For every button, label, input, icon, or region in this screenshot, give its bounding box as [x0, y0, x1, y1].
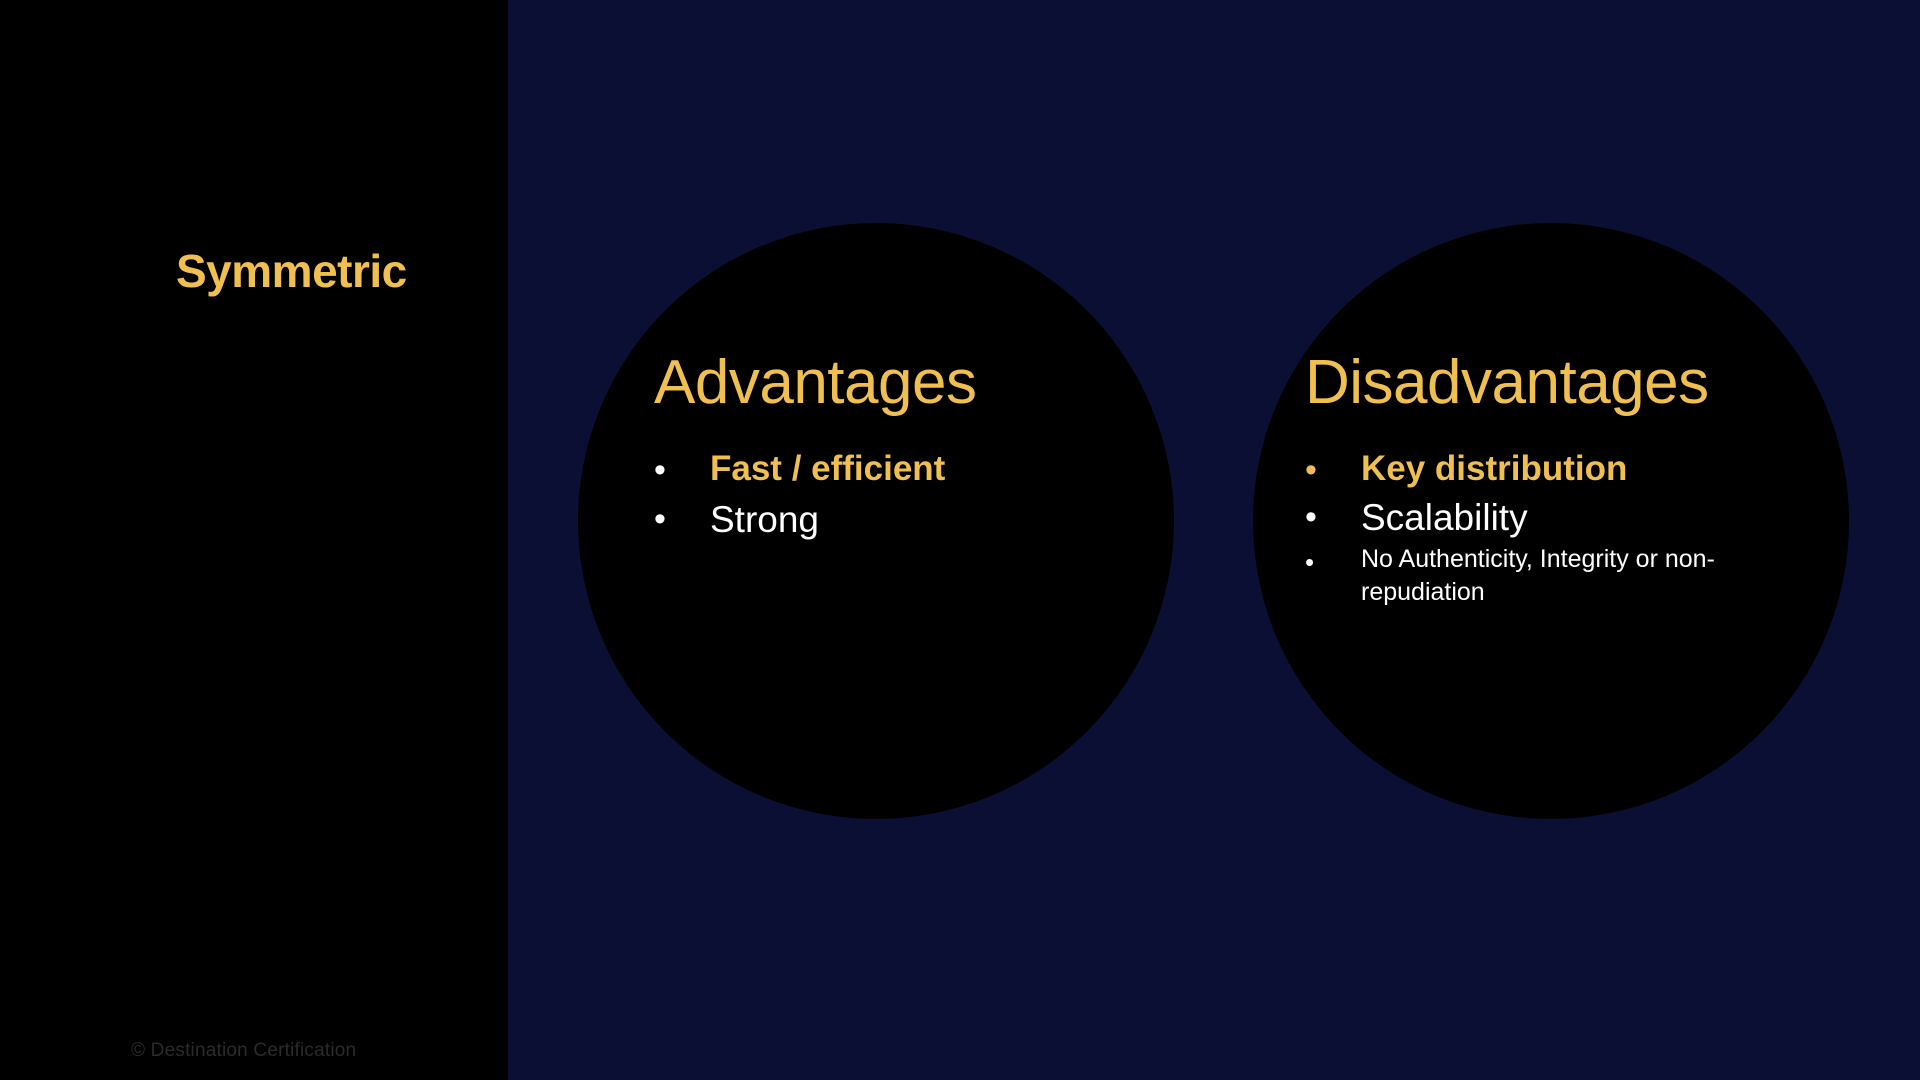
- advantages-content: Advantages • Fast / efficient • Strong: [654, 350, 1124, 547]
- list-item: • No Authenticity, Integrity or non- rep…: [1305, 543, 1805, 608]
- disadvantages-heading: Disadvantages: [1305, 350, 1805, 415]
- footer-copyright: © Destination Certification: [131, 1040, 356, 1062]
- list-item-label: Strong: [710, 496, 1124, 543]
- list-item-label: Fast / efficient: [710, 447, 1124, 492]
- list-item-label: No Authenticity, Integrity or non- repud…: [1361, 543, 1805, 608]
- page-title: Symmetric: [176, 244, 407, 298]
- bullet-dot-icon: •: [1305, 543, 1361, 575]
- list-item-label: Scalability: [1361, 494, 1805, 541]
- bullet-dot-icon: •: [1305, 447, 1361, 487]
- list-item: • Key distribution: [1305, 447, 1805, 492]
- list-item: • Strong: [654, 496, 1124, 543]
- slide-root: Symmetric © Destination Certification Ad…: [0, 0, 1920, 1080]
- bullet-dot-icon: •: [1305, 494, 1361, 534]
- advantages-bullet-list: • Fast / efficient • Strong: [654, 447, 1124, 543]
- list-item: • Scalability: [1305, 494, 1805, 541]
- bullet-dot-icon: •: [654, 496, 710, 536]
- disadvantages-content: Disadvantages • Key distribution • Scala…: [1305, 350, 1805, 612]
- list-item-label: Key distribution: [1361, 447, 1805, 492]
- disadvantages-bullet-list: • Key distribution • Scalability • No Au…: [1305, 447, 1805, 608]
- bullet-dot-icon: •: [654, 447, 710, 487]
- advantages-heading: Advantages: [654, 350, 1124, 415]
- sidebar-panel: Symmetric © Destination Certification: [0, 0, 508, 1080]
- list-item: • Fast / efficient: [654, 447, 1124, 492]
